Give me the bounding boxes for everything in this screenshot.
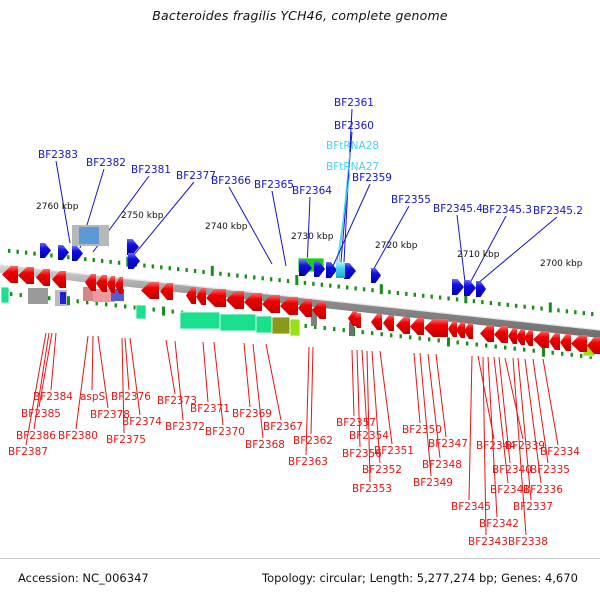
reverse-gene-arrow [549,333,560,350]
gene-label[interactable]: BF2368 [245,440,285,451]
scale-tick [362,330,364,334]
scale-tick [115,303,117,307]
scale-tick [549,302,552,312]
scale-tick [33,252,35,256]
scale-tick [363,287,365,291]
scale-tick [124,304,126,308]
rna-block [136,305,146,319]
footer-divider [0,558,600,559]
scale-tick [507,303,509,307]
scale-tick [109,260,111,264]
leader-line [130,338,140,415]
gene-label[interactable]: BF2351 [374,446,414,457]
leader-line [543,359,558,445]
genome-map-viewer: Bacteroides fragilis YCH46, complete gen… [0,0,600,600]
scale-tick [447,337,450,346]
scale-tick [419,336,421,340]
gene-label[interactable]: BF2335 [530,465,570,476]
scale-tick [431,295,433,299]
forward-gene-arrow [452,279,464,295]
reverse-gene-arrow [371,314,382,330]
scale-tick [93,258,95,262]
gene-label[interactable]: BF2381 [131,165,171,176]
gene-label[interactable]: BFtRNA27 [326,162,379,173]
gene-label[interactable]: BF2362 [293,436,333,447]
scale-tick [346,285,348,289]
gene-label[interactable]: BF2345 [451,502,491,513]
scale-tick [473,299,475,303]
scale-tick [50,253,52,257]
scale-tick [400,334,402,338]
gene-label[interactable]: BF2334 [540,447,580,458]
scale-tick [457,340,459,344]
leader-line [125,338,129,390]
scale-tick [48,296,50,300]
reverse-gene-arrow [571,335,587,352]
scale-tick [557,308,559,312]
misc-block [28,288,48,304]
reverse-strand-features[interactable] [2,266,600,354]
gene-label[interactable]: BF2370 [205,427,245,438]
reverse-gene-arrow [524,330,533,346]
gene-label[interactable]: BF2348 [422,460,462,471]
leader-line [518,358,531,500]
reverse-gene-arrow [560,334,571,351]
leader-line [76,336,88,429]
gene-label[interactable]: BF2371 [190,404,230,415]
rna-block [256,316,272,333]
scale-tick [481,300,483,304]
trna-feature [336,262,341,278]
gene-label[interactable]: BF2353 [352,484,392,495]
scale-tick [495,345,497,349]
ruler-tick-label: 2700 kbp [540,260,582,269]
scale-tick [523,305,525,309]
scale-tick [490,301,492,305]
scale-tick [185,268,187,272]
scale-tick [152,264,154,268]
scale-tick [409,335,411,339]
scale-tick [101,259,103,263]
gene-label[interactable]: BF2355 [391,195,431,206]
scale-tick [172,310,174,314]
scale-tick [504,346,506,350]
scale-tick [371,288,373,292]
gene-label[interactable]: BF2387 [8,447,48,458]
scale-tick [169,266,171,270]
scale-tick [245,274,247,278]
gene-label[interactable]: BF2367 [263,422,303,433]
gene-label[interactable]: BF2384 [33,392,73,403]
leader-line [203,342,208,402]
scale-tick [405,292,407,296]
leader-line [51,333,56,390]
scale-tick [552,351,554,355]
scale-tick [591,312,593,316]
rna-block [220,314,256,331]
scale-tick [134,305,136,309]
gene-label[interactable]: BF2343 [468,537,508,548]
gene-label[interactable]: BF2360 [334,121,374,132]
leader-line [337,173,350,262]
reverse-gene-arrow [396,317,410,334]
scale-tick [583,311,585,315]
scale-tick [253,275,255,279]
gene-label[interactable]: BF2345.4 [433,204,483,215]
gene-label[interactable]: BF2377 [176,171,216,182]
gene-label[interactable]: BF2382 [86,158,126,169]
gene-label[interactable]: BF2352 [362,465,402,476]
scale-tick [304,281,306,285]
forward-gene-arrow [128,253,140,269]
reverse-gene-arrow [456,322,465,338]
scale-tick [388,290,390,294]
gene-label[interactable]: BFtRNA28 [326,141,379,152]
gene-label[interactable]: BF2386 [16,431,56,442]
ruler-tick-label: 2710 kbp [457,251,499,260]
gene-label[interactable]: BF2369 [232,409,272,420]
scale-tick [390,333,392,337]
gene-label[interactable]: BF2366 [211,176,251,187]
leader-line [166,340,175,394]
scale-tick [381,332,383,336]
gene-label[interactable]: BF2338 [508,537,548,548]
scale-tick [118,261,120,265]
reverse-gene-arrow [410,318,424,335]
gene-label[interactable]: BF2337 [513,502,553,513]
gene-label[interactable]: BF2372 [165,422,205,433]
scale-tick [580,354,582,358]
scale-tick [20,293,22,297]
leader-line [352,350,354,416]
gene-label[interactable]: BF2340 [492,465,532,476]
scale-tick [439,296,441,300]
scale-tick [10,292,12,296]
scale-tick [532,306,534,310]
gene-label[interactable]: BF2380 [58,431,98,442]
forward-gene-arrow [344,263,356,279]
scale-tick [202,270,204,274]
scale-tick [571,353,573,357]
leader-line [457,215,465,282]
leader-line [175,341,183,420]
leader-line [311,347,313,434]
rna-block [180,312,220,329]
scale-tick [153,308,155,312]
reverse-gene-arrow [448,321,457,337]
scale-tick [456,297,458,301]
reverse-gene-arrow [508,328,517,344]
scale-tick [414,293,416,297]
genome-stats-text: Topology: circular; Length: 5,277,274 bp… [262,571,578,585]
rna-block [272,317,290,334]
leader-line [92,336,93,390]
scale-tick [333,327,335,331]
leader-line [272,191,286,266]
gene-label[interactable]: BF2339 [505,441,545,452]
leader-line [420,353,431,476]
scale-tick [211,266,214,276]
gene-label[interactable]: BF2365 [254,180,294,191]
scale-tick [380,284,383,294]
scale-tick [295,275,298,285]
forward-gene-arrow [326,262,337,278]
scale-tick [262,276,264,280]
scale-tick [540,307,542,311]
scale-tick [422,294,424,298]
rna-block [290,319,300,336]
gene-label[interactable]: BF2376 [111,392,151,403]
scale-tick [67,296,70,305]
scale-tick [16,250,18,254]
gene-label[interactable]: BF2359 [352,173,392,184]
accession-text: Accession: NC_006347 [18,571,149,585]
scale-tick [8,249,10,253]
scale-tick [160,265,162,269]
gene-label[interactable]: BF2347 [428,439,468,450]
scale-tick [466,341,468,345]
scale-tick [228,273,230,277]
scale-tick [177,267,179,271]
gene-label[interactable]: BF2375 [106,435,146,446]
reverse-gene-arrow [480,325,494,342]
scale-tick [105,302,107,306]
scale-tick [533,349,535,353]
gene-label[interactable]: BF2345.3 [482,205,532,216]
leader-line [26,333,46,445]
ruler-tick-label: 2730 kbp [291,233,333,242]
gene-label[interactable]: BF2349 [413,478,453,489]
scale-tick [329,284,331,288]
scale-tick [397,291,399,295]
scale-tick [485,344,487,348]
scale-tick [498,302,500,306]
gene-label[interactable]: BF2345.2 [533,206,583,217]
scale-tick [312,282,314,286]
gene-label[interactable]: BF2361 [334,98,374,109]
scale-tick [67,255,69,259]
gene-label[interactable]: BF2342 [479,519,519,530]
forward-gene-arrow [371,268,381,283]
scale-tick [514,347,516,351]
misc-block [79,227,99,244]
gene-label[interactable]: BF2350 [402,425,442,436]
reverse-gene-arrow [424,319,448,337]
reverse-gene-arrow [516,329,525,345]
leader-line [469,356,472,500]
gene-label[interactable]: BF2385 [21,409,61,420]
rna-block [1,287,9,303]
scale-tick [343,328,345,332]
scale-tick [438,338,440,342]
scale-tick [542,348,545,357]
gene-label[interactable]: BF2336 [523,485,563,496]
forward-gene-arrow [72,246,83,261]
scale-tick [515,304,517,308]
gene-label[interactable]: BF2363 [288,457,328,468]
scale-tick [25,251,27,255]
gene-label[interactable]: BF2374 [122,417,162,428]
scale-tick [162,307,165,316]
leader-line [333,184,370,266]
ruler-tick-label: 2760 kbp [36,203,78,212]
leader-line [414,353,420,423]
scale-tick [566,309,568,313]
forward-gene-arrow [464,280,476,296]
leader-line [372,206,409,272]
scale-tick [194,269,196,273]
leader-line [244,343,250,407]
scale-tick [270,277,272,281]
genome-map-canvas [0,0,600,600]
scale-tick [278,278,280,282]
scale-tick [236,274,238,278]
scale-tick [219,272,221,276]
reverse-gene-arrow [383,315,394,331]
scale-tick [338,285,340,289]
scale-tick [354,286,356,290]
ruler-tick-label: 2740 kbp [205,223,247,232]
reverse-gene-arrow [464,323,473,339]
forward-gene-arrow [127,239,139,255]
scale-tick [287,279,289,283]
scale-tick [143,264,145,268]
ruler-tick-label: 2720 kbp [375,242,417,251]
scale-tick [476,343,478,347]
ruler-tick-label: 2750 kbp [121,212,163,221]
scale-tick [324,326,326,330]
scale-tick [77,299,79,303]
misc-block [60,292,66,304]
reverse-gene-arrow [533,331,549,348]
leader-line [253,344,263,438]
scale-tick [523,348,525,352]
gene-label[interactable]: BF2354 [349,431,389,442]
gene-label[interactable]: BF2357 [336,418,376,429]
scale-tick [84,257,86,261]
scale-tick [305,324,307,328]
trna-feature [341,262,345,278]
forward-gene-arrow [40,243,51,258]
gene-label[interactable]: aspS [80,392,105,403]
gene-label[interactable]: BF2383 [38,150,78,161]
scale-tick [371,331,373,335]
scale-tick [447,296,449,300]
scale-tick [561,352,563,356]
scale-tick [321,283,323,287]
scale-tick [428,337,430,341]
scale-tick [574,310,576,314]
forward-gene-arrow [476,281,486,297]
reverse-gene-arrow [494,326,508,343]
gene-label[interactable]: BF2364 [292,186,332,197]
